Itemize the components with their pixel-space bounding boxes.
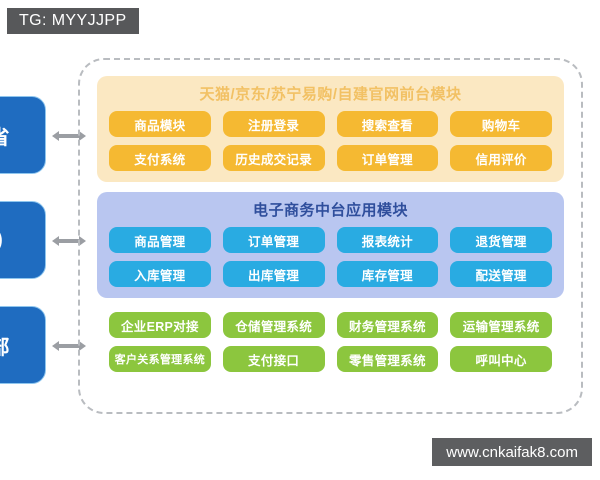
module-chip[interactable]: 商品管理 xyxy=(109,227,211,253)
left-node-3-label: 部 xyxy=(0,331,11,360)
module-chip[interactable]: 订单管理 xyxy=(337,145,439,171)
module-chip[interactable]: 商品模块 xyxy=(109,111,211,137)
left-node-1[interactable]: 省 xyxy=(0,96,46,174)
module-chip[interactable]: 运输管理系统 xyxy=(450,312,552,338)
module-chip[interactable]: 支付系统 xyxy=(109,145,211,171)
module-chip[interactable]: 库存管理 xyxy=(337,261,439,287)
module-chip[interactable]: 零售管理系统 xyxy=(337,346,439,372)
group-midplatform-modules: 电子商务中台应用模块 商品管理 订单管理 报表统计 退货管理 入库管理 出库管理… xyxy=(97,192,564,298)
left-node-2-label: ) xyxy=(0,229,4,252)
module-chip[interactable]: 订单管理 xyxy=(223,227,325,253)
module-chip[interactable]: 信用评价 xyxy=(450,145,552,171)
module-chip[interactable]: 支付接口 xyxy=(223,346,325,372)
module-chip[interactable]: 仓储管理系统 xyxy=(223,312,325,338)
module-chip[interactable]: 退货管理 xyxy=(450,227,552,253)
module-chip[interactable]: 企业ERP对接 xyxy=(109,312,211,338)
module-chip[interactable]: 入库管理 xyxy=(109,261,211,287)
module-chip[interactable]: 呼叫中心 xyxy=(450,346,552,372)
group-backend-systems: 企业ERP对接 仓储管理系统 财务管理系统 运输管理系统 客户关系管理系统 支付… xyxy=(97,308,564,383)
module-chip[interactable]: 客户关系管理系统 xyxy=(109,346,211,372)
left-node-2[interactable]: ) xyxy=(0,201,46,279)
site-url-watermark: www.cnkaifak8.com xyxy=(432,438,592,466)
left-node-1-label: 省 xyxy=(0,121,11,150)
group-backend-items: 企业ERP对接 仓储管理系统 财务管理系统 运输管理系统 客户关系管理系统 支付… xyxy=(97,308,564,383)
group-frontend-modules: 天猫/京东/苏宁易购/自建官网前台模块 商品模块 注册登录 搜索查看 购物车 支… xyxy=(97,76,564,182)
group-frontend-items: 商品模块 注册登录 搜索查看 购物车 支付系统 历史成交记录 订单管理 信用评价 xyxy=(97,111,564,182)
group-frontend-title: 天猫/京东/苏宁易购/自建官网前台模块 xyxy=(97,76,564,111)
module-chip[interactable]: 注册登录 xyxy=(223,111,325,137)
left-node-3[interactable]: 部 xyxy=(0,306,46,384)
group-midplatform-items: 商品管理 订单管理 报表统计 退货管理 入库管理 出库管理 库存管理 配送管理 xyxy=(97,227,564,298)
module-chip[interactable]: 配送管理 xyxy=(450,261,552,287)
module-chip[interactable]: 搜索查看 xyxy=(337,111,439,137)
module-chip[interactable]: 报表统计 xyxy=(337,227,439,253)
module-chip[interactable]: 购物车 xyxy=(450,111,552,137)
group-midplatform-title: 电子商务中台应用模块 xyxy=(97,192,564,227)
telegram-watermark-tag: TG: MYYJJPP xyxy=(7,8,139,34)
module-chip[interactable]: 财务管理系统 xyxy=(337,312,439,338)
module-chip[interactable]: 出库管理 xyxy=(223,261,325,287)
module-chip[interactable]: 历史成交记录 xyxy=(223,145,325,171)
